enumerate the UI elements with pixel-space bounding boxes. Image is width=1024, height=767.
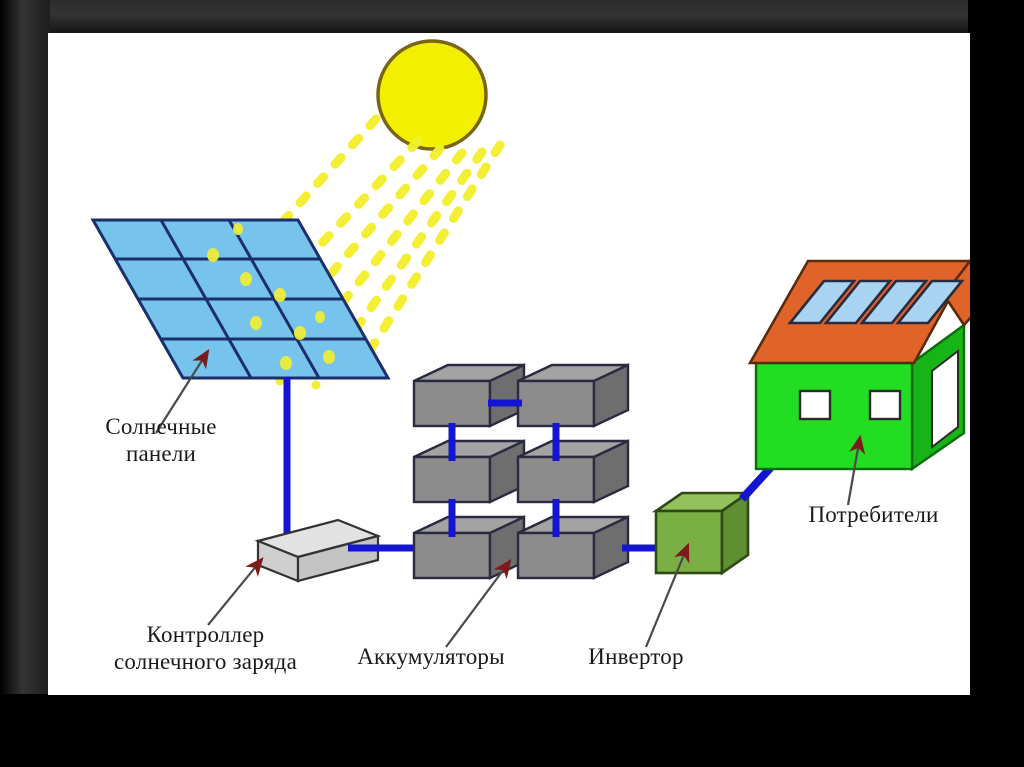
battery-front-face — [414, 381, 490, 426]
battery-front-face — [414, 533, 490, 578]
label-inverter: Инвертор — [546, 643, 726, 670]
battery-unit[interactable] — [518, 365, 628, 426]
battery-unit[interactable] — [414, 441, 524, 502]
sun-icon — [378, 41, 486, 149]
frame-border-top — [0, 0, 1024, 35]
frame-border-right — [968, 0, 1024, 767]
label-batteries: Аккумуляторы — [316, 643, 546, 670]
diagram-canvas: Солнечные панели Контроллер солнечного з… — [48, 33, 970, 695]
battery-front-face — [518, 457, 594, 502]
battery-front-face — [518, 533, 594, 578]
battery-unit[interactable] — [414, 517, 524, 578]
frame-border-left — [0, 0, 50, 767]
sun-group — [378, 41, 486, 149]
label-solar-panels: Солнечные панели — [56, 413, 266, 467]
battery-unit[interactable] — [414, 365, 524, 426]
inverter-front-face — [656, 511, 722, 573]
battery-unit[interactable] — [518, 517, 628, 578]
solar-system-diagram — [48, 33, 970, 695]
inverter[interactable] — [656, 493, 748, 573]
house-window — [870, 391, 900, 419]
label-charge-controller: Контроллер солнечного заряда — [78, 621, 333, 675]
frame-border-bottom — [0, 694, 1024, 767]
battery-front-face — [414, 457, 490, 502]
leader-controller — [208, 559, 262, 625]
battery-front-face — [518, 381, 594, 426]
solar-panel-array[interactable] — [93, 220, 388, 378]
battery-unit[interactable] — [518, 441, 628, 502]
label-consumers: Потребители — [766, 501, 981, 528]
house-window — [800, 391, 830, 419]
slide-container: Солнечные панели Контроллер солнечного з… — [0, 0, 1024, 767]
